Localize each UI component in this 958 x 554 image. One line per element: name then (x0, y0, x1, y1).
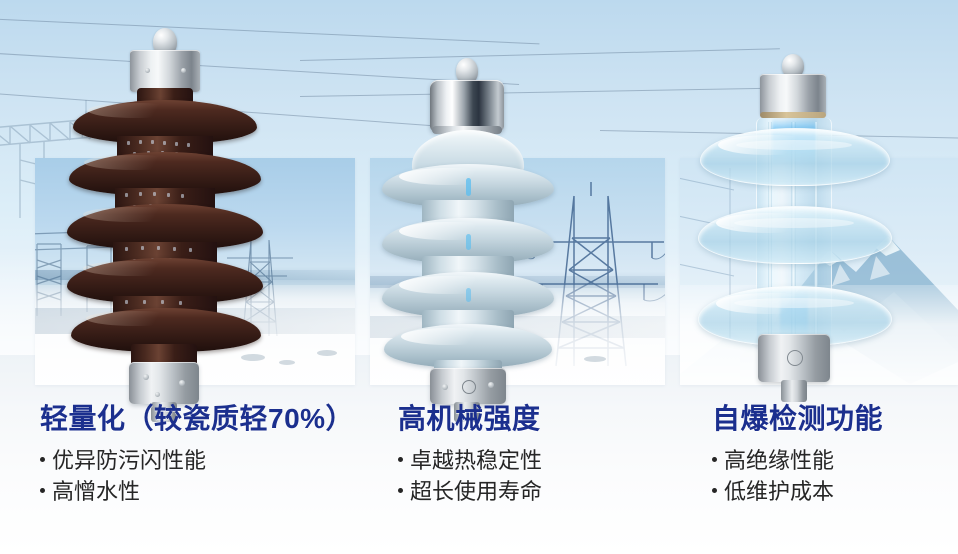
bullet-dot-icon (398, 488, 403, 493)
bullet-text: 优异防污闪性能 (52, 445, 206, 476)
product-1-cap-bolt (181, 68, 186, 73)
product-2-chrome-cap (430, 80, 504, 132)
product-3-disc-ring (734, 298, 854, 308)
bullet-text: 低维护成本 (724, 476, 834, 507)
product-3-disc-ring (734, 218, 854, 228)
slide-canvas: 轻量化（较瓷质轻70%） 优异防污闪性能 高憎水性 高机械强度 卓越热稳定性 (0, 0, 958, 554)
product-1-top-cap (130, 50, 200, 92)
bullet-dot-icon (712, 457, 717, 462)
bullet-dot-icon (712, 488, 717, 493)
product-3-top-cap (760, 74, 826, 116)
product-2-base-bolt (442, 384, 448, 390)
caption-bullets-1: 优异防污闪性能 高憎水性 (40, 445, 380, 507)
bullet-text: 超长使用寿命 (410, 476, 542, 507)
caption-title-3: 自爆检测功能 (712, 404, 958, 435)
caption-bullet: 高憎水性 (40, 476, 380, 507)
caption-row: 轻量化（较瓷质轻70%） 优异防污闪性能 高憎水性 高机械强度 卓越热稳定性 (0, 404, 958, 554)
caption-bullet: 优异防污闪性能 (40, 445, 380, 476)
caption-bullet: 卓越热稳定性 (398, 445, 668, 476)
product-2-highlight (466, 288, 471, 302)
product-2-highlight (466, 178, 471, 196)
caption-column-1: 轻量化（较瓷质轻70%） 优异防污闪性能 高憎水性 (40, 404, 380, 507)
product-1-base-bolt (143, 374, 149, 380)
product-1-cap-bolt (145, 68, 150, 73)
caption-column-2: 高机械强度 卓越热稳定性 超长使用寿命 (398, 404, 668, 507)
caption-column-3: 自爆检测功能 高绝缘性能 低维护成本 (712, 404, 958, 507)
bullet-text: 卓越热稳定性 (410, 445, 542, 476)
product-image-3[interactable] (688, 48, 900, 410)
product-3-bottom-stud (781, 380, 807, 402)
caption-bullet: 低维护成本 (712, 476, 958, 507)
bullet-text: 高憎水性 (52, 476, 140, 507)
caption-bullets-2: 卓越热稳定性 超长使用寿命 (398, 445, 668, 507)
product-3-disc-ring (736, 140, 852, 150)
product-3-disc (700, 128, 890, 186)
caption-bullets-3: 高绝缘性能 低维护成本 (712, 445, 958, 507)
product-2-base-bolt (488, 382, 494, 388)
caption-title-1: 轻量化（较瓷质轻70%） (40, 404, 380, 435)
product-3-base-logo-icon (787, 350, 803, 366)
bullet-text: 高绝缘性能 (724, 445, 834, 476)
bullet-dot-icon (40, 488, 45, 493)
product-image-2[interactable] (380, 48, 560, 410)
caption-bullet: 超长使用寿命 (398, 476, 668, 507)
product-1-base-flange (129, 362, 199, 404)
caption-title-2: 高机械强度 (398, 404, 668, 435)
caption-bullet: 高绝缘性能 (712, 445, 958, 476)
product-2-highlight (466, 234, 471, 250)
product-2-base-logo-icon (462, 380, 476, 394)
product-3-disc (698, 206, 892, 264)
product-1-base-bolt (179, 380, 185, 386)
product-1-base-bolt (155, 392, 160, 397)
product-image-1[interactable] (55, 18, 275, 410)
bullet-dot-icon (40, 457, 45, 462)
bullet-dot-icon (398, 457, 403, 462)
